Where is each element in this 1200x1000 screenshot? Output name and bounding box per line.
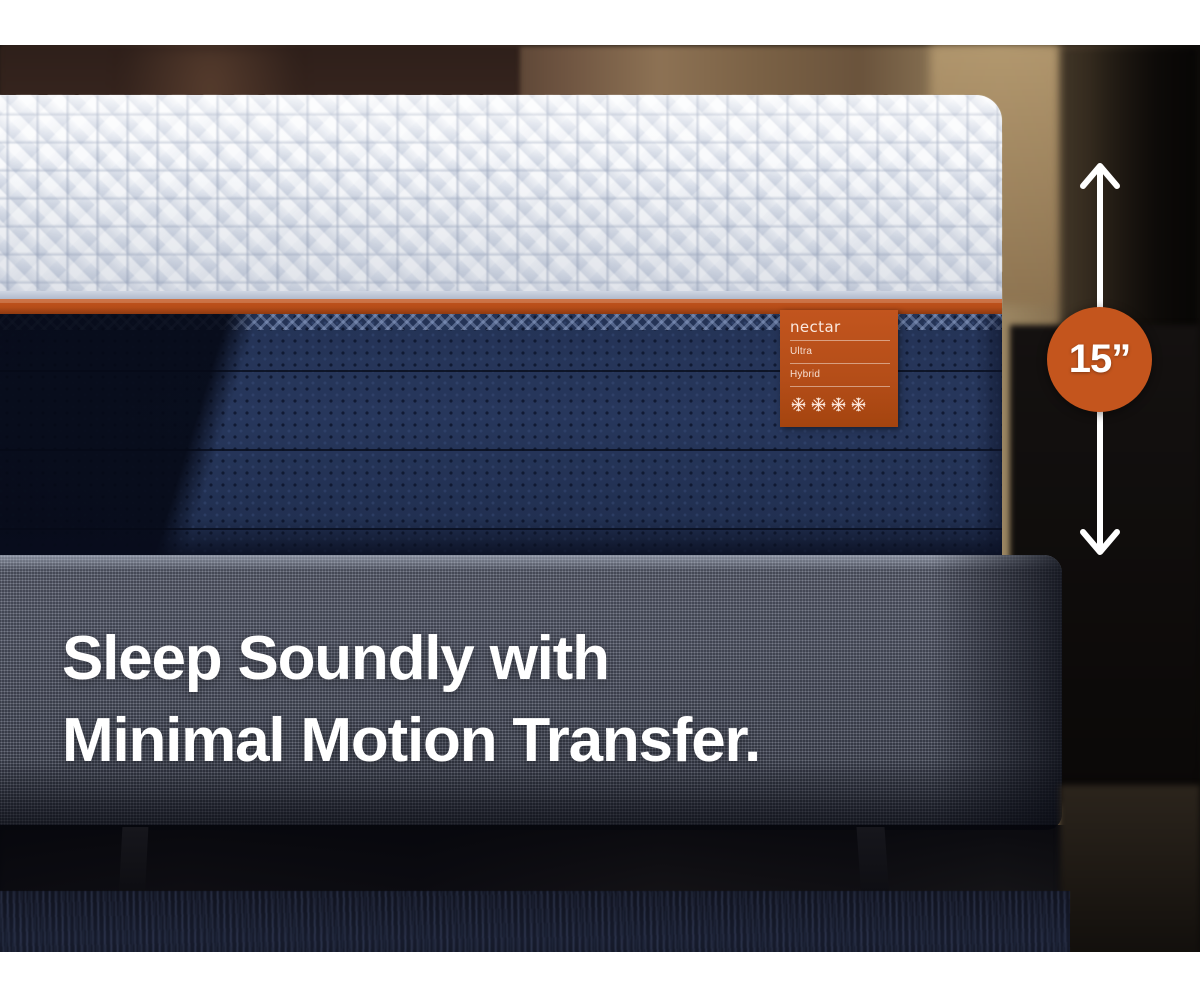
label-divider [790, 386, 890, 387]
cooling-rating-icons [790, 396, 890, 413]
mattress-quilted-top [0, 95, 1002, 308]
snowflake-icon [790, 396, 807, 413]
height-badge: 15” [1047, 307, 1152, 412]
floor-rug [0, 891, 1070, 952]
nectar-brand-logo: nectar [790, 318, 890, 336]
bedroom-photo: nectar Ultra Hybrid [0, 45, 1200, 952]
quilt-shading [0, 95, 1002, 308]
floor-right-area [1060, 785, 1200, 952]
product-image-stage: nectar Ultra Hybrid [0, 0, 1200, 1000]
rug-texture [0, 891, 1070, 952]
orange-trim-highlight [0, 299, 1002, 303]
headline: Sleep Soundly with Minimal Motion Transf… [62, 618, 922, 782]
navy-right-edge-shading [976, 314, 1002, 560]
label-divider [790, 363, 890, 364]
headline-line-2: Minimal Motion Transfer. [62, 700, 922, 782]
label-tier-text: Ultra [790, 345, 890, 359]
snowflake-icon [850, 396, 867, 413]
headline-line-1: Sleep Soundly with [62, 618, 922, 700]
snowflake-icon [810, 396, 827, 413]
label-type-text: Hybrid [790, 368, 890, 382]
label-divider [790, 340, 890, 341]
snowflake-icon [830, 396, 847, 413]
base-top-highlight [0, 555, 1062, 571]
nectar-product-label: nectar Ultra Hybrid [780, 310, 898, 427]
height-badge-value: 15” [1069, 337, 1131, 382]
navy-bottom-shadow [0, 520, 1002, 560]
